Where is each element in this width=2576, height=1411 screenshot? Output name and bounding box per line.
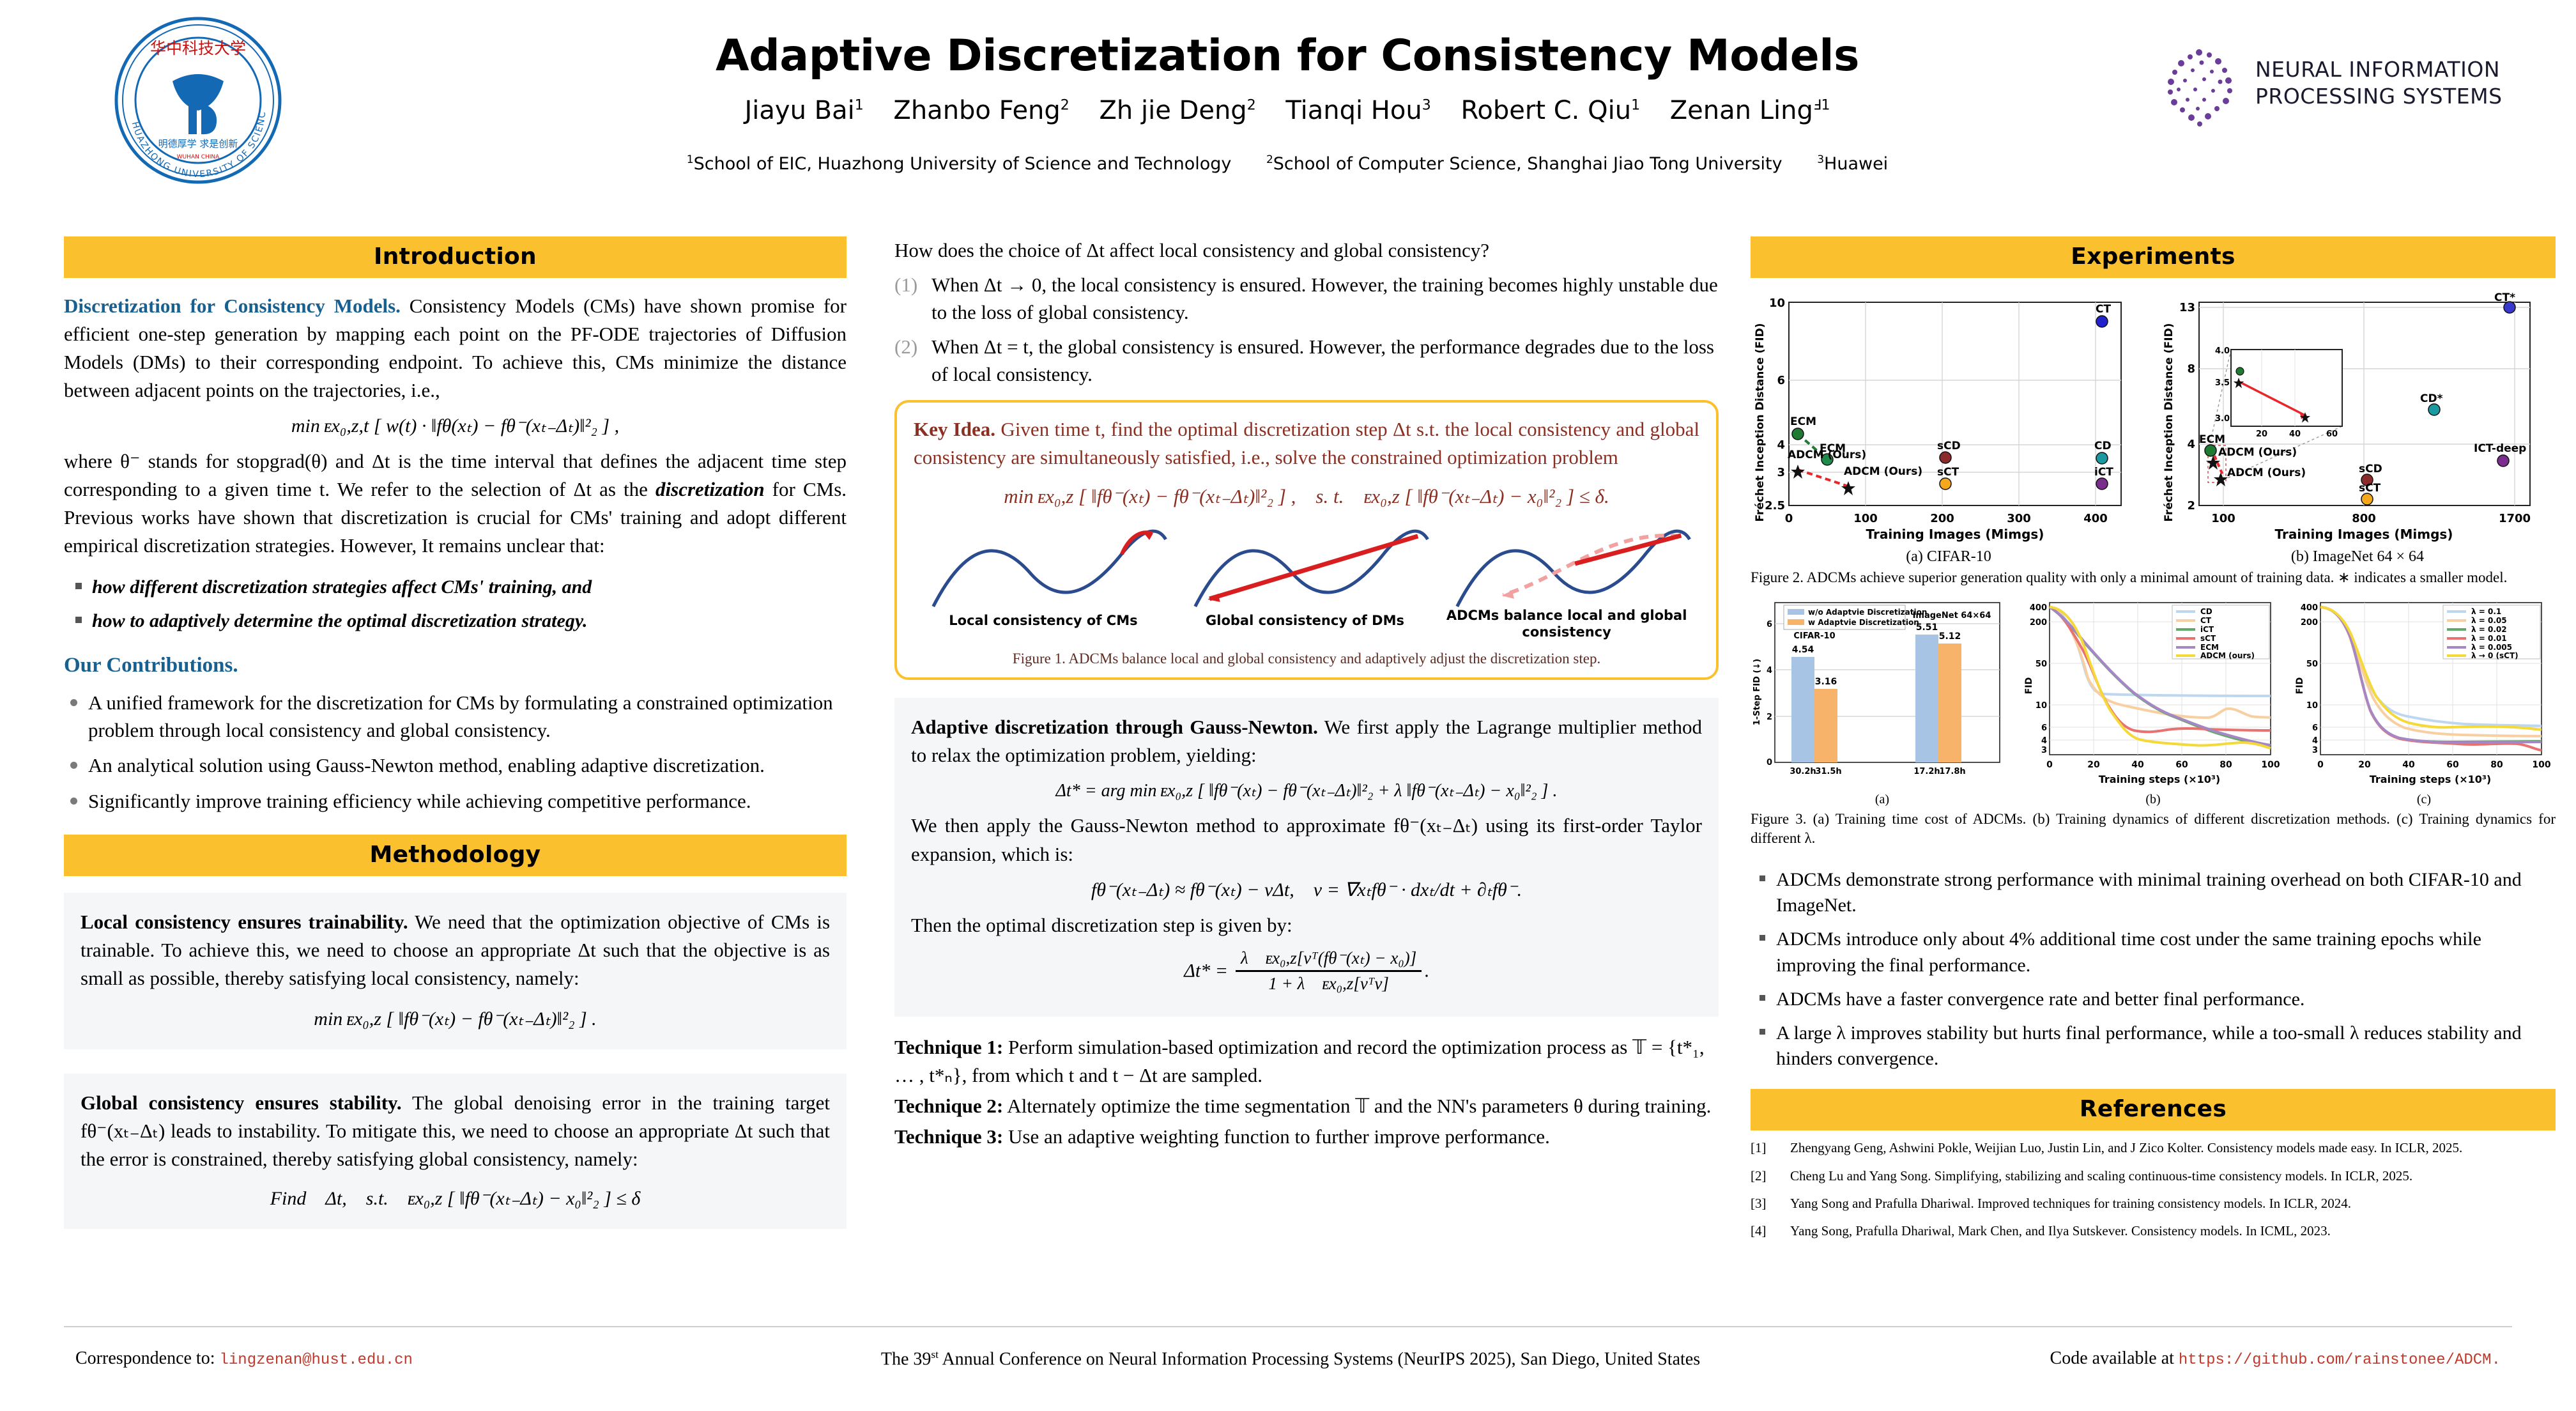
svg-text:sCT: sCT xyxy=(2359,482,2381,495)
reference-2: [3] Yang Song and Prafulla Dhariwal. Imp… xyxy=(1751,1195,2556,1212)
svg-text:1700: 1700 xyxy=(2499,512,2531,525)
svg-text:2.5: 2.5 xyxy=(1765,499,1785,513)
svg-text:ECM: ECM xyxy=(2199,433,2225,446)
svg-text:sCD: sCD xyxy=(1937,440,1961,452)
svg-text:Training steps (×10³): Training steps (×10³) xyxy=(2370,773,2492,785)
svg-text:FID: FID xyxy=(2024,677,2034,694)
svg-text:λ = 0.01: λ = 0.01 xyxy=(2471,634,2507,643)
optimal-step-equation: Δt* = λ ᴇx₀,z[vᵀ(fθ⁻(xₜ) − x₀)] 1 + λ ᴇx… xyxy=(911,948,1702,994)
svg-text:FID: FID xyxy=(2295,677,2305,694)
column-right: Experiments Fréchet Inception Distance (… xyxy=(1751,236,2556,1250)
affiliation-0: 1School of EIC, Huazhong University of S… xyxy=(687,154,1232,174)
svg-text:3.0: 3.0 xyxy=(2215,414,2230,424)
gauss-newton-lead: Adaptive discretization through Gauss-Ne… xyxy=(911,716,1318,738)
svg-text:3.5: 3.5 xyxy=(2215,378,2230,388)
affiliation-2: 3Huawei xyxy=(1817,154,1888,174)
footer-divider xyxy=(64,1326,2512,1327)
figure-2b-caption: (b) ImageNet 64 × 64 xyxy=(2159,548,2556,566)
svg-text:6: 6 xyxy=(2312,723,2318,733)
middle-point-0-num: (1) xyxy=(894,271,917,298)
svg-text:60: 60 xyxy=(2326,429,2338,439)
takeaways-list: ADCMs demonstrate strong performance wit… xyxy=(1751,867,2556,1073)
reference-2-number: [3] xyxy=(1751,1195,1767,1212)
svg-text:10: 10 xyxy=(2035,701,2047,711)
contribution-1: An analytical solution using Gauss-Newto… xyxy=(88,752,847,780)
intro-equation-1: min ᴇx₀,z,t [ w(t) · ‖fθ(xₜ) − fθ⁻(xₜ₋Δₜ… xyxy=(64,415,847,437)
svg-text:17.8h: 17.8h xyxy=(1939,767,1965,776)
svg-text:CT*: CT* xyxy=(2494,291,2515,304)
reference-1-number: [2] xyxy=(1751,1168,1767,1185)
svg-text:300: 300 xyxy=(2007,512,2031,525)
svg-text:40: 40 xyxy=(2131,760,2144,770)
section-header-methodology: Methodology xyxy=(64,835,847,876)
local-consistency-text: Local consistency ensures trainability. … xyxy=(80,908,830,992)
svg-text:Fréchet Inception Distance (FI: Fréchet Inception Distance (FID) xyxy=(1754,323,1767,522)
open-question-0: how different discretization strategies … xyxy=(92,574,847,600)
svg-text:400: 400 xyxy=(2030,603,2047,613)
svg-text:100: 100 xyxy=(2261,760,2280,770)
svg-text:100: 100 xyxy=(1853,512,1878,525)
optimal-step-denominator: 1 + λ ᴇx₀,z[vᵀv] xyxy=(1236,970,1422,994)
svg-text:200: 200 xyxy=(1930,512,1954,525)
svg-text:20: 20 xyxy=(2358,760,2371,770)
figure-1-caption: Figure 1. ADCMs balance local and global… xyxy=(914,651,1699,667)
reference-1: [2] Cheng Lu and Yang Song. Simplifying,… xyxy=(1751,1168,2556,1185)
column-middle: How does the choice of Δt affect local c… xyxy=(894,236,1719,1151)
optimal-step-lhs: Δt* = xyxy=(1184,960,1228,981)
svg-text:5.12: 5.12 xyxy=(1939,631,1961,642)
gauss-newton-equation-1: Δt* = arg min ᴇx₀,z [ ‖fθ⁻(xₜ) − fθ⁻(xₜ₋… xyxy=(911,780,1702,801)
local-consistency-box: Local consistency ensures trainability. … xyxy=(64,893,847,1049)
figure-2a-caption: (a) CIFAR-10 xyxy=(1751,548,2147,566)
svg-text:40: 40 xyxy=(2289,429,2301,439)
svg-text:1-Step FID (↓): 1-Step FID (↓) xyxy=(1752,659,1762,725)
local-consistency-equation: min ᴇx₀,z [ ‖fθ⁻(xₜ) − fθ⁻(xₜ₋Δₜ)‖²₂ ] . xyxy=(80,1008,830,1030)
svg-text:80: 80 xyxy=(2490,760,2503,770)
takeaway-1: ADCMs introduce only about 4% additional… xyxy=(1776,927,2556,979)
svg-text:CD: CD xyxy=(2094,440,2112,452)
intro-paragraph-1: Discretization for Consistency Models. C… xyxy=(64,292,847,405)
discretization-emph: discretization xyxy=(655,478,765,500)
figure-1-label-0: Local consistency of CMs xyxy=(914,613,1173,629)
local-consistency-lead: Local consistency ensures trainability. xyxy=(80,911,408,933)
svg-text:λ = 0.005: λ = 0.005 xyxy=(2471,643,2512,652)
svg-text:400: 400 xyxy=(2083,512,2108,525)
technique-0-label: Technique 1: xyxy=(894,1036,1003,1058)
svg-text:6: 6 xyxy=(2041,723,2047,733)
svg-text:3.16: 3.16 xyxy=(1815,677,1837,687)
svg-text:iCT: iCT xyxy=(2200,625,2214,634)
author-3: Tianqi Hou3 xyxy=(1285,96,1430,125)
svg-text:0: 0 xyxy=(2317,760,2324,770)
code-link: Code available at https://github.com/rai… xyxy=(2050,1348,2501,1369)
svg-text:60: 60 xyxy=(2175,760,2188,770)
gauss-newton-text-1: Adaptive discretization through Gauss-Ne… xyxy=(911,713,1702,769)
svg-text:800: 800 xyxy=(2352,512,2376,525)
svg-text:50: 50 xyxy=(2035,659,2047,669)
author-2: Zh jie Deng2 xyxy=(1100,96,1256,125)
code-link-url[interactable]: https://github.com/rainstonee/ADCM. xyxy=(2179,1352,2501,1369)
figure-2-caption: Figure 2. ADCMs achieve superior generat… xyxy=(1751,568,2556,587)
optimal-step-numerator: λ ᴇx₀,z[vᵀ(fθ⁻(xₜ) − x₀)] xyxy=(1236,948,1422,970)
svg-text:λ = 0.02: λ = 0.02 xyxy=(2471,625,2507,634)
svg-text:CD: CD xyxy=(2200,607,2212,616)
svg-text:Fréchet Inception Distance (FI: Fréchet Inception Distance (FID) xyxy=(2163,323,2175,522)
intro-paragraph-2: where θ⁻ stands for stopgrad(θ) and Δt i… xyxy=(64,447,847,560)
svg-text:50: 50 xyxy=(2306,659,2318,669)
author-list: Jiayu Bai1 Zhanbo Feng2 Zh jie Deng2 Tia… xyxy=(639,96,1936,125)
svg-text:CT: CT xyxy=(2200,616,2212,625)
correspondence: Correspondence to: lingzenan@hust.edu.cn xyxy=(75,1348,413,1369)
middle-question: How does the choice of Δt affect local c… xyxy=(894,236,1719,265)
open-question-1: how to adaptively determine the optimal … xyxy=(92,608,847,634)
middle-points-list: (1) When Δt → 0, the local consistency i… xyxy=(894,271,1719,389)
reference-0-number: [1] xyxy=(1751,1139,1767,1157)
svg-text:4: 4 xyxy=(2312,736,2318,746)
reference-3-number: [4] xyxy=(1751,1222,1767,1240)
intro-lead: Discretization for Consistency Models. xyxy=(64,295,401,317)
svg-text:4.0: 4.0 xyxy=(2215,346,2230,356)
figure-3a-chart: 1-Step FID (↓) 6420 4.543.16 5.515.12 xyxy=(1751,596,2014,807)
svg-text:4: 4 xyxy=(2187,438,2195,451)
svg-text:CD*: CD* xyxy=(2420,392,2443,405)
section-header-experiments: Experiments xyxy=(1751,236,2556,278)
gauss-newton-text-3: Then the optimal discretization step is … xyxy=(911,911,1702,939)
section-header-references: References xyxy=(1751,1089,2556,1130)
code-link-label: Code available at xyxy=(2050,1348,2179,1368)
svg-text:6: 6 xyxy=(1777,374,1785,387)
svg-text:17.2h: 17.2h xyxy=(1913,767,1940,776)
key-idea-box: Key Idea. Given time t, find the optimal… xyxy=(894,400,1719,681)
author-1: Zhanbo Feng2 xyxy=(893,96,1069,125)
svg-text:4: 4 xyxy=(2041,736,2047,746)
svg-text:sCD: sCD xyxy=(2359,463,2382,475)
svg-text:60: 60 xyxy=(2446,760,2459,770)
middle-point-1-num: (2) xyxy=(894,333,917,360)
references-list: [1] Zhengyang Geng, Ashwini Pokle, Weiji… xyxy=(1751,1139,2556,1240)
poster-header: 华中科技大学 明德厚学 求是创新 WUHAN CHINA HUAZHONG UN… xyxy=(0,0,2576,204)
correspondence-email[interactable]: lingzenan@hust.edu.cn xyxy=(220,1352,413,1369)
neurips-line-1: NEURAL INFORMATION xyxy=(2255,56,2503,83)
figure-2a-chart: Fréchet Inception Distance (FID) 1064 32… xyxy=(1751,288,2147,566)
contribution-0: A unified framework for the discretizati… xyxy=(88,690,847,744)
svg-text:200: 200 xyxy=(2301,618,2318,628)
svg-text:3: 3 xyxy=(1777,466,1785,479)
svg-text:ICT-deep: ICT-deep xyxy=(2474,442,2526,455)
svg-text:20: 20 xyxy=(2256,429,2267,439)
figure-3-caption: Figure 3. (a) Training time cost of ADCM… xyxy=(1751,810,2556,848)
svg-text:13: 13 xyxy=(2179,301,2195,314)
neurips-line-2: PROCESSING SYSTEMS xyxy=(2255,83,2503,110)
figure-3b-chart: FID 40020050 10643 02040 xyxy=(2021,596,2285,807)
svg-text:ADCM (ours): ADCM (ours) xyxy=(2200,651,2255,660)
svg-text:明德厚学 求是创新: 明德厚学 求是创新 xyxy=(158,138,238,150)
svg-text:3: 3 xyxy=(2041,746,2047,755)
contributions-list: A unified framework for the discretizati… xyxy=(64,690,847,815)
svg-text:31.5h: 31.5h xyxy=(1815,767,1841,776)
svg-text:4: 4 xyxy=(1777,438,1785,452)
svg-text:400: 400 xyxy=(2301,603,2318,613)
svg-text:6: 6 xyxy=(1767,620,1772,629)
svg-text:λ = 0.05: λ = 0.05 xyxy=(2471,616,2507,625)
affiliation-1: 2School of Computer Science, Shanghai Ji… xyxy=(1266,154,1782,174)
svg-text:100: 100 xyxy=(2211,512,2235,525)
figure-2: Fréchet Inception Distance (FID) 1064 32… xyxy=(1751,288,2556,566)
middle-point-1: (2) When Δt = t, the global consistency … xyxy=(894,333,1719,389)
technique-2: Technique 3: Use an adaptive weighting f… xyxy=(894,1123,1719,1151)
techniques-list: Technique 1: Perform simulation-based op… xyxy=(894,1033,1719,1151)
author-5: Zenan LingℲ1 xyxy=(1670,96,1830,125)
technique-0: Technique 1: Perform simulation-based op… xyxy=(894,1033,1719,1090)
global-consistency-equation: Find Δt, s.t. ᴇx₀,z [ ‖fθ⁻(xₜ₋Δₜ) − x₀‖²… xyxy=(80,1187,830,1210)
neurips-wordmark: NEURAL INFORMATION PROCESSING SYSTEMS xyxy=(2255,56,2503,110)
global-consistency-box: Global consistency ensures stability. Th… xyxy=(64,1074,847,1229)
svg-text:5.51: 5.51 xyxy=(1916,622,1938,633)
section-header-introduction: Introduction xyxy=(64,236,847,278)
svg-text:ADCM (Ours): ADCM (Ours) xyxy=(1844,465,1922,478)
svg-text:0: 0 xyxy=(1785,512,1793,525)
svg-text:4: 4 xyxy=(1767,666,1772,675)
figure-3c-chart: FID 40020050 10643 02040 xyxy=(2292,596,2556,807)
svg-text:2: 2 xyxy=(2187,499,2195,513)
contributions-heading: Our Contributions. xyxy=(64,651,847,681)
svg-text:10: 10 xyxy=(2306,701,2318,711)
gauss-newton-box: Adaptive discretization through Gauss-Ne… xyxy=(894,698,1719,1016)
svg-text:ECM: ECM xyxy=(2200,643,2219,652)
technique-2-label: Technique 3: xyxy=(894,1125,1003,1148)
svg-text:sCT: sCT xyxy=(1937,466,1959,479)
key-idea-lead: Key Idea. xyxy=(914,418,995,440)
svg-text:λ → 0 (sCT): λ → 0 (sCT) xyxy=(2471,651,2518,660)
svg-text:w/o Adaptvie Discretization: w/o Adaptvie Discretization xyxy=(1808,608,1927,617)
global-consistency-text: Global consistency ensures stability. Th… xyxy=(80,1089,830,1173)
svg-text:CT: CT xyxy=(2096,303,2111,316)
poster-title: Adaptive Discretization for Consistency … xyxy=(639,31,1936,81)
svg-text:Training Images (Mimgs): Training Images (Mimgs) xyxy=(1866,527,2044,542)
reference-0: [1] Zhengyang Geng, Ashwini Pokle, Weiji… xyxy=(1751,1139,2556,1157)
svg-text:华中科技大学: 华中科技大学 xyxy=(150,39,246,58)
gauss-newton-text-2: We then apply the Gauss-Newton method to… xyxy=(911,812,1702,868)
hust-logo: 华中科技大学 明德厚学 求是创新 WUHAN CHINA HUAZHONG UN… xyxy=(112,14,284,187)
svg-text:200: 200 xyxy=(2030,618,2047,628)
figure-3a-caption: (a) xyxy=(1751,792,2014,807)
key-idea-text: Key Idea. Given time t, find the optimal… xyxy=(914,415,1699,472)
technique-1-label: Technique 2: xyxy=(894,1095,1003,1117)
svg-text:40: 40 xyxy=(2402,760,2415,770)
author-4: Robert C. Qiu1 xyxy=(1460,96,1640,125)
author-0: Jiayu Bai1 xyxy=(744,96,863,125)
figure-2b-chart: Fréchet Inception Distance (FID) 13842 1… xyxy=(2159,288,2556,566)
svg-text:8: 8 xyxy=(2187,362,2195,376)
svg-text:3: 3 xyxy=(2312,746,2318,755)
figure-1-diagram: Local consistency of CMs Global consiste… xyxy=(914,517,1699,648)
conference-line: The 39st Annual Conference on Neural Inf… xyxy=(677,1348,1904,1369)
takeaway-2: ADCMs have a faster convergence rate and… xyxy=(1776,987,2556,1013)
middle-point-0: (1) When Δt → 0, the local consistency i… xyxy=(894,271,1719,327)
correspondence-label: Correspondence to: xyxy=(75,1348,220,1368)
svg-text:4.54: 4.54 xyxy=(1792,645,1814,655)
svg-text:ECM: ECM xyxy=(1790,415,1816,428)
svg-text:Training steps (×10³): Training steps (×10³) xyxy=(2099,773,2221,785)
figure-1-label-2: ADCMs balance local and global consisten… xyxy=(1437,608,1696,640)
open-questions-list: how different discretization strategies … xyxy=(64,574,847,634)
svg-text:2: 2 xyxy=(1767,713,1772,722)
svg-text:0: 0 xyxy=(2046,760,2053,770)
contribution-2: Significantly improve training efficienc… xyxy=(88,788,847,815)
svg-text:λ = 0.1: λ = 0.1 xyxy=(2471,607,2501,616)
svg-text:sCT: sCT xyxy=(2200,634,2216,643)
svg-text:ADCM (Ours): ADCM (Ours) xyxy=(1788,449,1866,461)
svg-text:10: 10 xyxy=(1769,297,1785,310)
global-consistency-lead: Global consistency ensures stability. xyxy=(80,1091,402,1114)
figure-1-label-1: Global consistency of DMs xyxy=(1176,613,1435,629)
svg-text:ADCM (Ours): ADCM (Ours) xyxy=(2218,446,2297,459)
svg-text:WUHAN CHINA: WUHAN CHINA xyxy=(177,154,220,160)
poster-root: 华中科技大学 明德厚学 求是创新 WUHAN CHINA HUAZHONG UN… xyxy=(0,0,2576,1411)
figure-3: 1-Step FID (↓) 6420 4.543.16 5.515.12 xyxy=(1751,596,2556,807)
poster-footer: Correspondence to: lingzenan@hust.edu.cn… xyxy=(0,1342,2576,1393)
gauss-newton-equation-2: fθ⁻(xₜ₋Δₜ) ≈ fθ⁻(xₜ) − vΔt, v = ∇xₜfθ⁻ ·… xyxy=(911,879,1702,901)
affiliation-list: 1School of EIC, Huazhong University of S… xyxy=(639,153,1936,174)
figure-3b-caption: (b) xyxy=(2021,792,2285,807)
takeaway-0: ADCMs demonstrate strong performance wit… xyxy=(1776,867,2556,920)
svg-text:Training Images (Mimgs): Training Images (Mimgs) xyxy=(2275,527,2453,542)
svg-text:100: 100 xyxy=(2532,760,2550,770)
svg-text:30.2h: 30.2h xyxy=(1790,767,1816,776)
svg-text:ADCM (Ours): ADCM (Ours) xyxy=(2227,466,2306,479)
neurips-logo: NEURAL INFORMATION PROCESSING SYSTEMS xyxy=(2159,32,2556,160)
svg-text:80: 80 xyxy=(2219,760,2232,770)
svg-text:20: 20 xyxy=(2087,760,2100,770)
reference-3: [4] Yang Song, Prafulla Dhariwal, Mark C… xyxy=(1751,1222,2556,1240)
column-left: Introduction Discretization for Consiste… xyxy=(64,236,847,1229)
svg-text:CIFAR-10: CIFAR-10 xyxy=(1793,631,1835,641)
takeaway-3: A large λ improves stability but hurts f… xyxy=(1776,1021,2556,1073)
key-idea-equation: min ᴇx₀,z [ ‖fθ⁻(xₜ) − fθ⁻(xₜ₋Δₜ)‖²₂ ] ,… xyxy=(914,482,1699,511)
svg-text:w Adaptvie Discretization: w Adaptvie Discretization xyxy=(1808,618,1919,627)
figure-3c-caption: (c) xyxy=(2292,792,2556,807)
svg-text:iCT: iCT xyxy=(2094,466,2113,479)
svg-text:0: 0 xyxy=(1767,758,1772,767)
technique-1: Technique 2: Alternately optimize the ti… xyxy=(894,1092,1719,1120)
